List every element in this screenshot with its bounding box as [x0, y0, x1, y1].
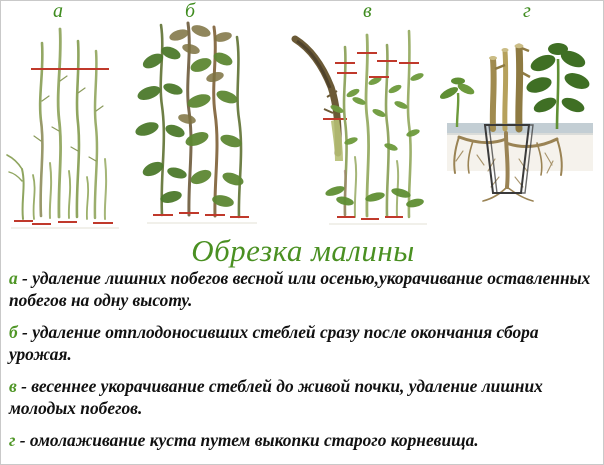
panel-b-artwork [127, 1, 277, 233]
description-text-v: весеннее укорачивание стеблей до живой п… [9, 376, 543, 418]
old-stumps [489, 44, 530, 129]
cane-detail-inset [295, 39, 347, 161]
panel-g-artwork [433, 1, 604, 233]
panel-v-artwork [283, 1, 443, 233]
page-title: Обрезка малины [1, 233, 604, 269]
illustration-band: а [1, 1, 604, 233]
description-item-a: а - удаление лишних побегов весной или о… [9, 267, 599, 311]
description-item-b: б - удаление отплодоносивших стеблей сра… [9, 321, 599, 365]
poster-sheet: а [1, 1, 603, 464]
young-plant-right [524, 43, 591, 129]
panel-b: б [127, 1, 277, 233]
description-dash-a: - [18, 268, 33, 288]
panel-g: г [433, 1, 604, 233]
description-text-g: омолаживание куста путем выкопки старого… [30, 430, 479, 450]
cut-mark-to-bud [335, 53, 419, 77]
cut-mark-base [14, 221, 113, 224]
description-text-a: удаление лишних побегов весной или осень… [9, 268, 590, 310]
description-item-v: в - весеннее укорачивание стеблей до жив… [9, 375, 599, 419]
description-item-g: г - омолаживание куста путем выкопки ста… [9, 429, 599, 451]
panel-v: в [283, 1, 443, 233]
description-list: а - удаление лишних побегов весной или о… [9, 267, 599, 451]
description-marker-v: в [9, 376, 17, 396]
description-dash-v: - [17, 376, 32, 396]
description-dash-b: - [18, 322, 33, 342]
cut-mark-base [153, 213, 249, 217]
panel-a: а [1, 1, 131, 233]
cut-mark-base [337, 217, 403, 219]
description-text-b: удаление отплодоносивших стеблей сразу п… [9, 322, 539, 364]
description-marker-b: б [9, 322, 18, 342]
description-dash-g: - [15, 430, 30, 450]
description-marker-a: а [9, 268, 18, 288]
panel-a-artwork [1, 1, 131, 233]
young-shoot-left [438, 78, 476, 128]
